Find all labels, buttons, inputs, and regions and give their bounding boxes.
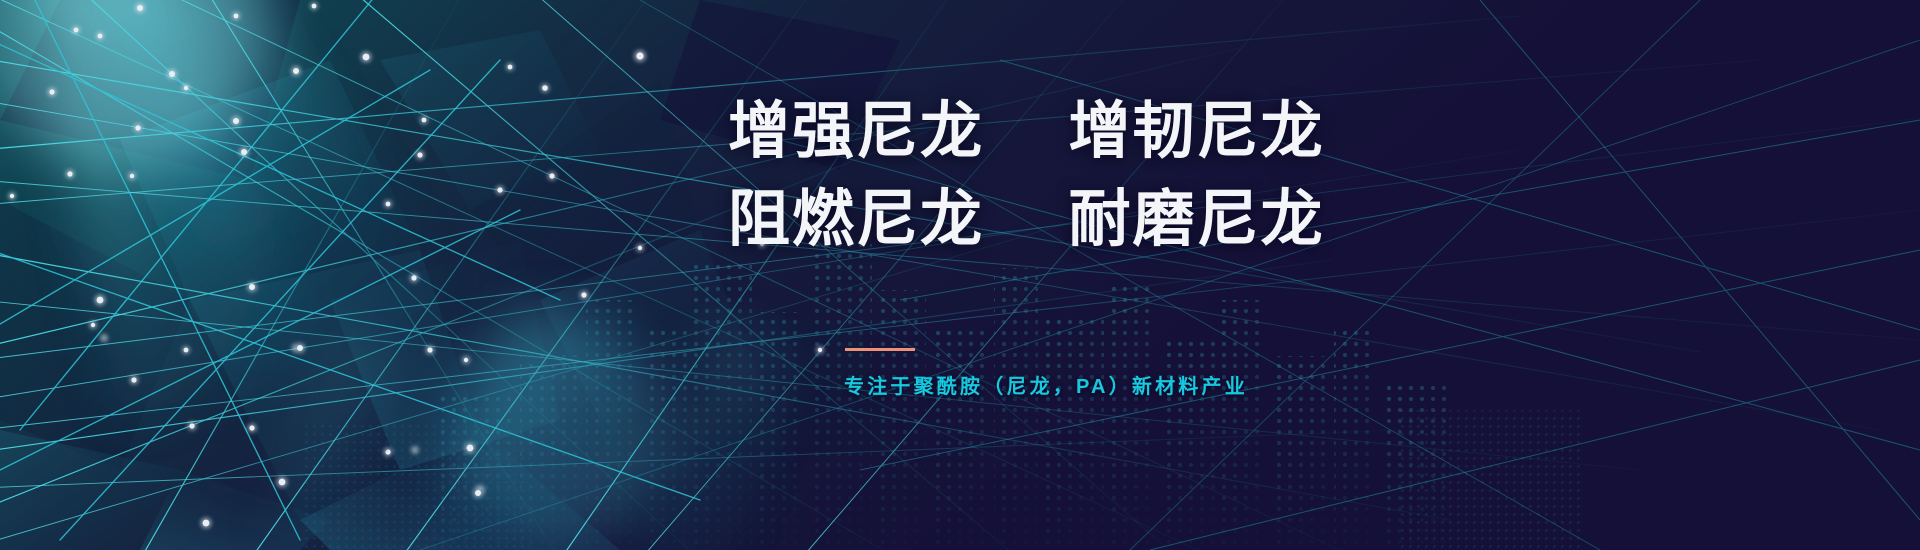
headline-phrase-flame-retardant-nylon: 阻燃尼龙 — [728, 176, 984, 264]
headline-phrase-toughened-nylon: 增韧尼龙 — [1068, 88, 1324, 176]
headline-phrase-wear-resistant-nylon: 耐磨尼龙 — [1068, 176, 1324, 264]
headline-phrase-reinforced-nylon: 增强尼龙 — [728, 88, 984, 176]
subtitle-divider-rule — [845, 348, 915, 351]
headline-line-1: 增强尼龙 增韧尼龙 — [728, 88, 1628, 176]
subtitle-text: 专注于聚酰胺（尼龙，PA）新材料产业 — [844, 370, 1248, 399]
subtitle-block: 专注于聚酰胺（尼龙，PA）新材料产业 — [844, 348, 1248, 399]
hero-banner: 增强尼龙 增韧尼龙 阻燃尼龙 耐磨尼龙 专注于聚酰胺（尼龙，PA）新材料产业 — [0, 0, 1920, 550]
headline-line-2: 阻燃尼龙 耐磨尼龙 — [728, 176, 1628, 264]
banner-content: 增强尼龙 增韧尼龙 阻燃尼龙 耐磨尼龙 专注于聚酰胺（尼龙，PA）新材料产业 — [0, 0, 1920, 550]
headline-block: 增强尼龙 增韧尼龙 阻燃尼龙 耐磨尼龙 — [728, 88, 1628, 264]
